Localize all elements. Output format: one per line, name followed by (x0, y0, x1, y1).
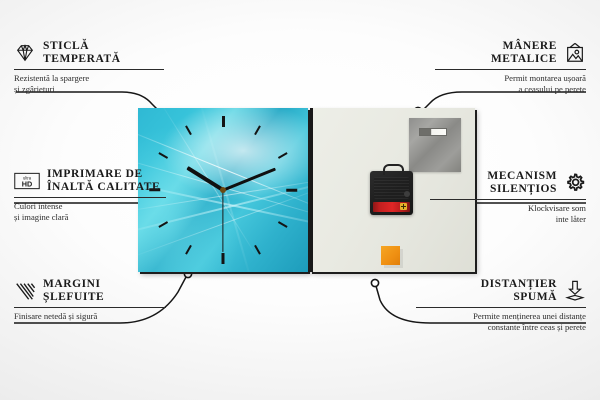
diamond-icon (14, 42, 36, 64)
quartz-mechanism-part (370, 171, 413, 215)
second-hand (222, 190, 223, 252)
battery-part (373, 202, 410, 212)
feature-mechanism-divider (430, 199, 586, 200)
feature-handles-divider (435, 69, 586, 70)
gear-icon (564, 172, 586, 194)
minute-hand (222, 168, 275, 192)
wall-frame-icon (564, 42, 586, 64)
hour-hand (186, 166, 224, 192)
feature-handles-title: MÂNERE METALICE (491, 40, 557, 66)
feature-edges-subtitle: Finisare netedă și sigură (14, 311, 166, 322)
feature-glass-subtitle: Rezistentă la spargere și zgârieturi (14, 73, 164, 94)
feature-edges-title: MARGINI ȘLEFUITE (43, 278, 104, 304)
down-arrow-layers-icon (564, 280, 586, 302)
polished-edges-icon (14, 280, 36, 302)
mechanism-knob (404, 191, 410, 197)
feature-print-subtitle: Culori intense și imagine clară (14, 201, 166, 222)
svg-text:HD: HD (22, 180, 32, 189)
feature-glass: STICLĂ TEMPERATĂ Rezistentă la spargere … (14, 40, 164, 94)
feature-spacer-title: DISTANȚIER SPUMĂ (481, 278, 557, 304)
feature-edges: MARGINI ȘLEFUITE Finisare netedă și sigu… (14, 278, 166, 322)
feature-spacer-subtitle: Permite menținerea unei distanțe constan… (416, 311, 586, 332)
feature-mechanism: MECANISM SILENȚIOS Klockvisare som inte … (430, 170, 586, 224)
feature-handles-subtitle: Permit montarea ușoară a ceasului pe per… (435, 73, 586, 94)
feature-spacer-divider (416, 307, 586, 308)
feature-handles: MÂNERE METALICE Permit montarea ușoară a… (435, 40, 586, 94)
hands-center-cap (220, 187, 226, 193)
foam-spacer-part (381, 246, 400, 265)
feature-edges-divider (14, 307, 166, 308)
metal-hanger-icon-part (409, 118, 461, 172)
feature-glass-title: STICLĂ TEMPERATĂ (43, 40, 121, 66)
feature-mechanism-subtitle: Klockvisare som inte låter (430, 203, 586, 224)
endpoint-spacer (371, 279, 378, 286)
ultra-hd-icon: ultra HD (14, 170, 40, 192)
feature-print-title: IMPRIMARE DE ÎNALTĂ CALITATE (47, 168, 160, 194)
infographic-canvas: STICLĂ TEMPERATĂ Rezistentă la spargere … (0, 0, 600, 400)
feature-print: ultra HD IMPRIMARE DE ÎNALTĂ CALITATE Cu… (14, 168, 166, 222)
hanger-slot (419, 128, 447, 136)
feature-spacer: DISTANȚIER SPUMĂ Permite menținerea unei… (416, 278, 586, 332)
feature-glass-divider (14, 69, 164, 70)
feature-print-divider (14, 197, 166, 198)
feature-mechanism-title: MECANISM SILENȚIOS (487, 170, 557, 196)
battery-plus-icon (400, 203, 407, 210)
mechanism-hanging-loop (383, 164, 404, 175)
